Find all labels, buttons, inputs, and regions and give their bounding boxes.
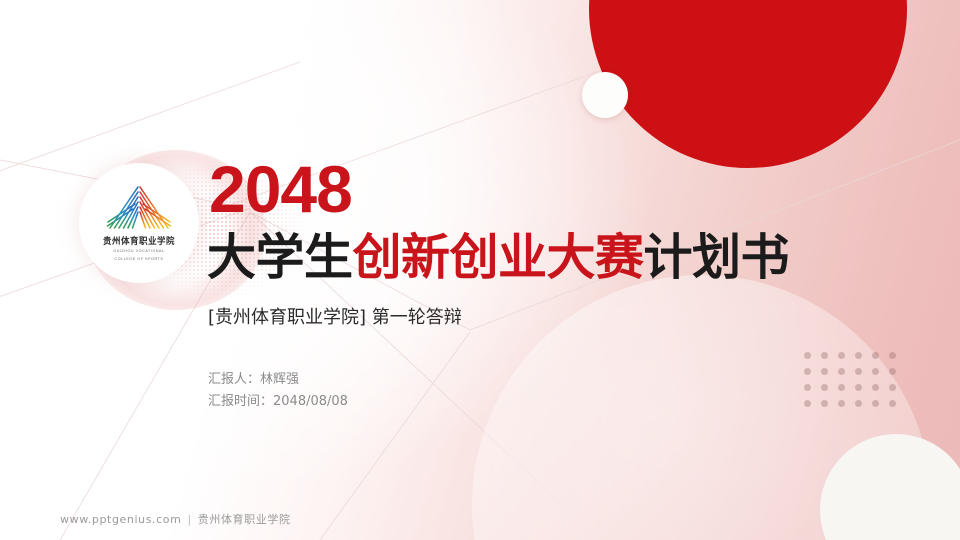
footer-org: 贵州体育职业学院 [198,513,291,526]
slide-headline: 大学生创新创业大赛计划书 [207,232,789,283]
logo-name-en-line2: COLLEGE OF SPORTS [115,257,164,262]
slide-meta: 汇报人：林辉强 汇报时间：2048/08/08 [208,369,348,414]
meta-date: 汇报时间：2048/08/08 [208,391,348,413]
headline-part-1: 大学生 [207,229,353,286]
decor-dot-grid [804,352,906,416]
presentation-slide: 贵州体育职业学院 GUIZHOU VOCATIONAL COLLEGE OF S… [0,0,960,540]
slide-subtitle: [贵州体育职业学院] 第一轮答辩 [208,303,462,329]
slide-year: 2048 [209,156,352,222]
decor-white-dot [582,72,628,118]
footer-site: www.pptgenius.com [60,513,181,526]
institution-logo: 贵州体育职业学院 GUIZHOU VOCATIONAL COLLEGE OF S… [79,163,199,283]
headline-part-3: 计划书 [644,229,790,286]
meta-presenter: 汇报人：林辉强 [208,369,348,391]
footer-separator: | [187,513,191,526]
logo-name-cn: 贵州体育职业学院 [103,235,175,248]
mountain-peak-icon [101,184,177,232]
logo-name-en-line1: GUIZHOU VOCATIONAL [113,249,164,254]
slide-footer: www.pptgenius.com|贵州体育职业学院 [60,511,291,527]
headline-part-2: 创新创业大赛 [353,229,644,286]
